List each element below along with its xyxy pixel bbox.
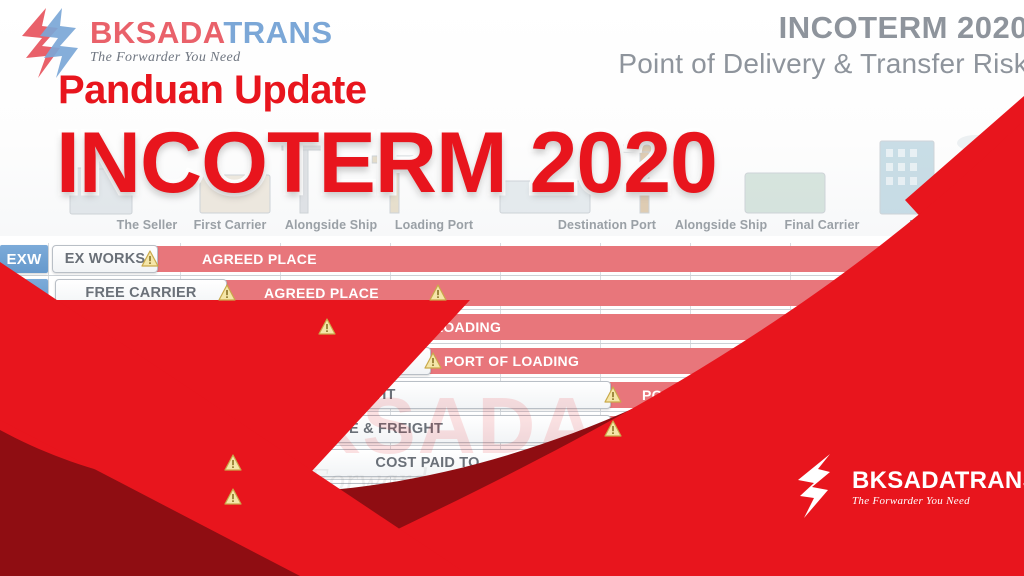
- brand-name: BKSADATRANS: [90, 17, 333, 48]
- kicker-title: Panduan Update: [58, 70, 367, 110]
- incoterm-code-badge[interactable]: FAS: [0, 313, 48, 341]
- poster-canvas: INCOTERM 2020 Point of Delivery & Transf…: [0, 0, 1024, 576]
- warning-triangle-icon: [424, 352, 442, 369]
- table-row[interactable]: FASPORT OF LOADINGFREE ALONGSIDE SHIP: [0, 311, 1024, 343]
- buyer-cost-bar[interactable]: AGREED PLACE: [150, 246, 1024, 272]
- incoterm-code-badge[interactable]: DPU: [0, 517, 48, 545]
- buyer-bar-label: AGREED PLACE: [222, 285, 379, 301]
- row-divider: [0, 309, 1024, 310]
- column-label: The Buyer: [910, 218, 972, 232]
- seller-cost-bar[interactable]: COST, INSURANCE & FREIGHT: [55, 415, 611, 443]
- incoterm-code-badge[interactable]: CIF: [0, 415, 48, 443]
- seller-cost-bar[interactable]: [55, 551, 800, 576]
- warning-triangle-icon: [141, 250, 159, 267]
- incoterm-code-badge[interactable]: FOB: [0, 347, 48, 375]
- column-label: Loading Port: [395, 218, 473, 232]
- warning-triangle-icon: [429, 284, 447, 301]
- warning-triangle-icon: [218, 284, 236, 301]
- row-divider: [0, 547, 1024, 548]
- column-label: The Seller: [117, 218, 178, 232]
- row-divider: [0, 377, 1024, 378]
- seller-cost-bar[interactable]: [55, 517, 800, 545]
- buyer-cost-bar[interactable]: AGREED PLACE: [222, 280, 1024, 306]
- arrow-chevron-mark-icon: [790, 452, 848, 520]
- page-subtitle: Point of Delivery & Transfer Risk: [508, 48, 1024, 80]
- column-label: Alongside Ship: [285, 218, 377, 232]
- buyer-cost-bar[interactable]: PORT OF DESTINATION: [606, 382, 1024, 408]
- column-label: Destination Port: [558, 218, 656, 232]
- seller-cost-bar[interactable]: CARRIAGE & INSURANCE PAID TO: [55, 483, 800, 511]
- row-divider: [0, 343, 1024, 344]
- buyer-bar-label: PORT OF DESTINATION: [606, 387, 808, 403]
- table-row[interactable]: FCAAGREED PLACEFREE CARRIER: [0, 277, 1024, 309]
- incoterm-code-badge[interactable]: CIP: [0, 483, 48, 511]
- seller-cost-bar[interactable]: COST & FREIGHT: [55, 381, 611, 409]
- table-row[interactable]: CIFPORT OF DESTINATIONCOST, INSURANCE & …: [0, 413, 1024, 445]
- row-divider: [0, 275, 1024, 276]
- warning-triangle-icon: [604, 386, 622, 403]
- brand-name: BKSADATRANS: [852, 469, 1024, 493]
- brand-name-part2: TRANS: [223, 15, 332, 50]
- buyer-cost-bar[interactable]: PORT OF DESTINATION: [606, 416, 1024, 442]
- warning-triangle-icon: [224, 454, 242, 471]
- header-block: INCOTERM 2020 Point of Delivery & Transf…: [508, 12, 1024, 80]
- buyer-bar-label: AGREED PLACE: [150, 251, 317, 267]
- incoterm-code-badge[interactable]: EXW: [0, 245, 48, 273]
- seller-cost-bar[interactable]: COST PAID TO: [55, 449, 800, 477]
- seller-cost-bar[interactable]: FREE ALONGSIDE SHIP: [55, 313, 325, 341]
- column-header-row: The SellerFirst CarrierAlongside ShipLoa…: [0, 218, 1024, 240]
- table-row[interactable]: FOBPORT OF LOADINGFREE ON BOARD: [0, 345, 1024, 377]
- incoterm-code-badge[interactable]: CPT: [0, 449, 48, 477]
- warning-triangle-icon: [224, 488, 242, 505]
- brand-tagline: The Forwarder You Need: [90, 50, 333, 66]
- incoterm-code-badge[interactable]: FCA: [0, 279, 48, 307]
- brand-name-part1: BKSADA: [90, 15, 223, 50]
- table-row[interactable]: CFRPORT OF DESTINATIONCOST & FREIGHT: [0, 379, 1024, 411]
- brand-logo-bottom-right: BKSADATRANS The Forwarder You Need: [790, 455, 1005, 523]
- buyer-bar-label: PORT OF LOADING: [320, 319, 501, 335]
- seller-cost-bar[interactable]: FREE ON BOARD: [55, 347, 431, 375]
- table-row[interactable]: [0, 549, 1024, 576]
- table-row[interactable]: EXWAGREED PLACEEX WORKS: [0, 243, 1024, 275]
- buyer-bar-label: PORT OF DESTINATION: [606, 421, 808, 437]
- row-divider: [0, 411, 1024, 412]
- incoterm-code-badge[interactable]: CFR: [0, 381, 48, 409]
- buyer-cost-bar[interactable]: PORT OF LOADING: [320, 314, 1024, 340]
- main-title: INCOTERM 2020: [56, 120, 717, 206]
- column-label: Alongside Ship: [675, 218, 767, 232]
- seller-cost-bar[interactable]: FREE CARRIER: [55, 279, 227, 307]
- buyer-cost-bar[interactable]: PORT OF LOADING: [426, 348, 1024, 374]
- column-label: Final Carrier: [785, 218, 860, 232]
- buyer-bar-label: PORT OF LOADING: [426, 353, 579, 369]
- row-divider: [0, 445, 1024, 446]
- brand-tagline: The Forwarder You Need: [852, 495, 1024, 507]
- warning-triangle-icon: [318, 318, 336, 335]
- page-title: INCOTERM 2020: [508, 12, 1024, 45]
- warning-triangle-icon: [604, 420, 622, 437]
- column-label: First Carrier: [194, 218, 267, 232]
- incoterms-chart: EXWAGREED PLACEEX WORKSFCAAGREED PLACEFR…: [0, 243, 1024, 576]
